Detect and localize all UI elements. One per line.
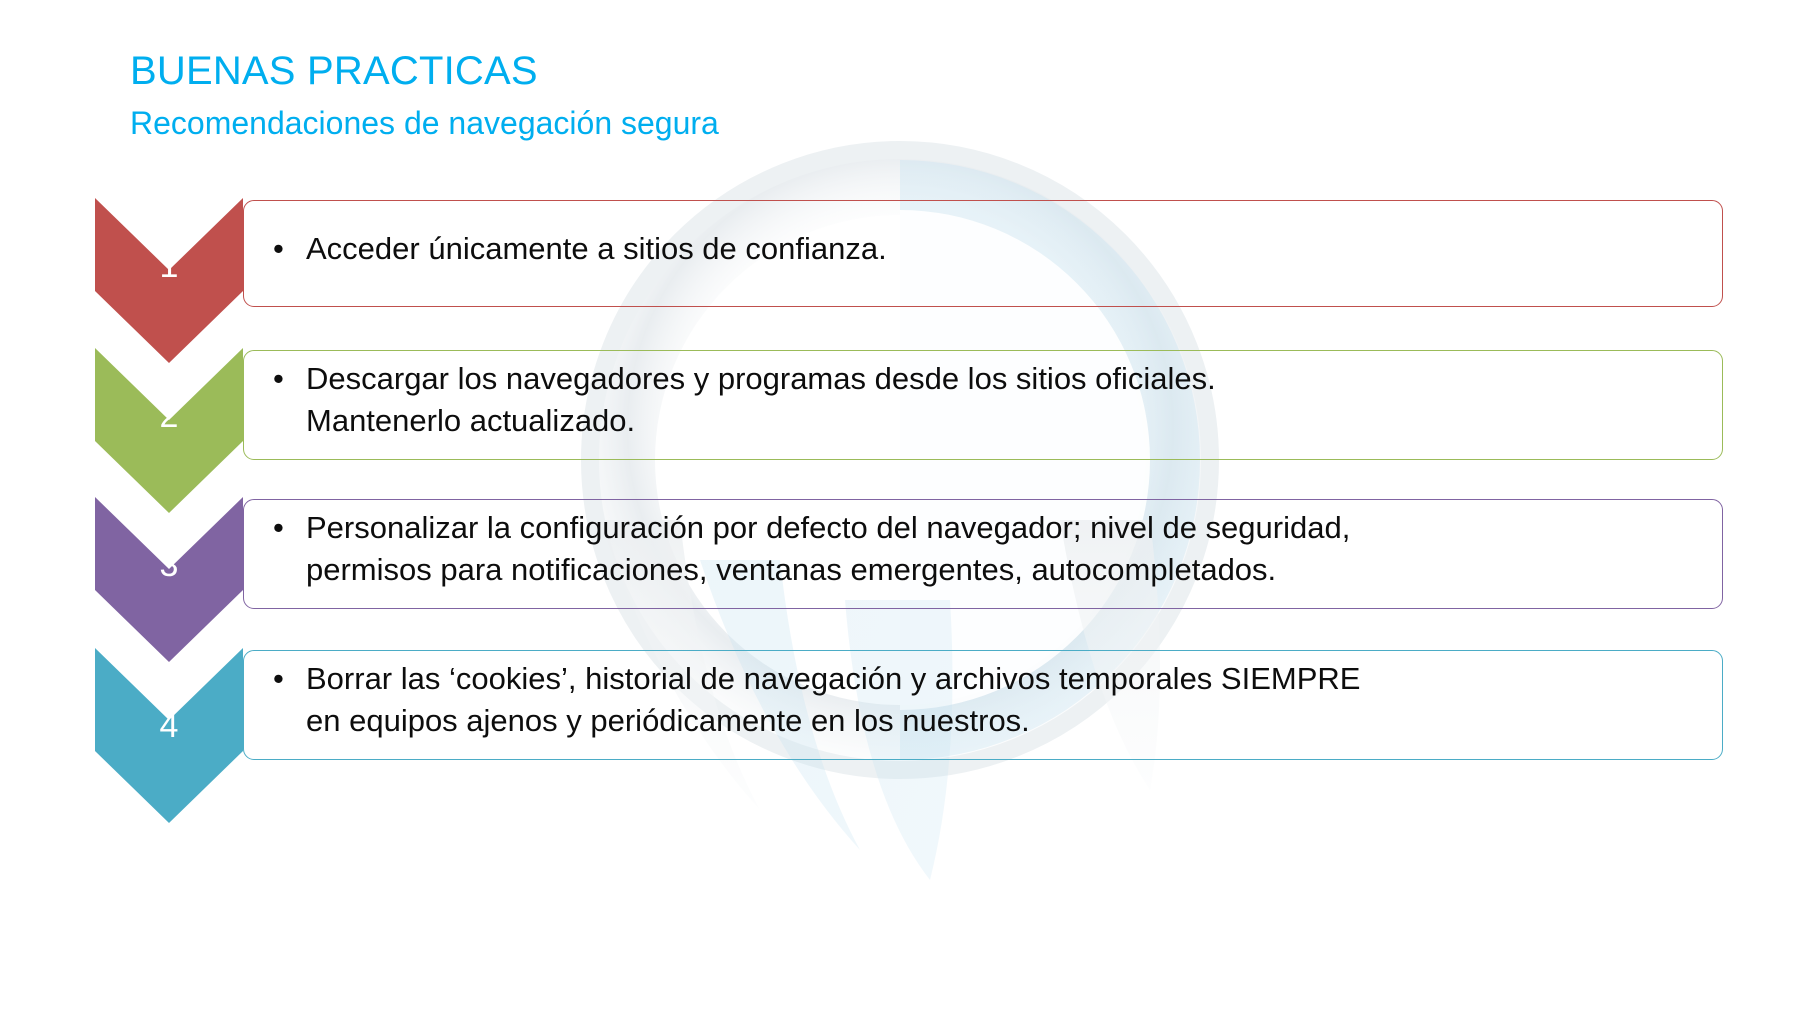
step-text-box [243, 650, 1723, 760]
step-text-box [243, 499, 1723, 609]
slide-heading: BUENAS PRACTICAS Recomendaciones de nave… [130, 48, 719, 144]
step-number-label: 4 [95, 709, 243, 743]
page-subtitle: Recomendaciones de navegación segura [130, 102, 719, 144]
step-number-label: 3 [95, 548, 243, 582]
step-number-label: 1 [95, 249, 243, 283]
step-text-box [243, 350, 1723, 460]
process-steps-list: 1•Acceder únicamente a sitios de confian… [0, 0, 1800, 1012]
step-text-box [243, 200, 1723, 307]
page-title: BUENAS PRACTICAS [130, 48, 719, 94]
step-number-label: 2 [95, 399, 243, 433]
slide-canvas: BUENAS PRACTICAS Recomendaciones de nave… [0, 0, 1800, 1012]
